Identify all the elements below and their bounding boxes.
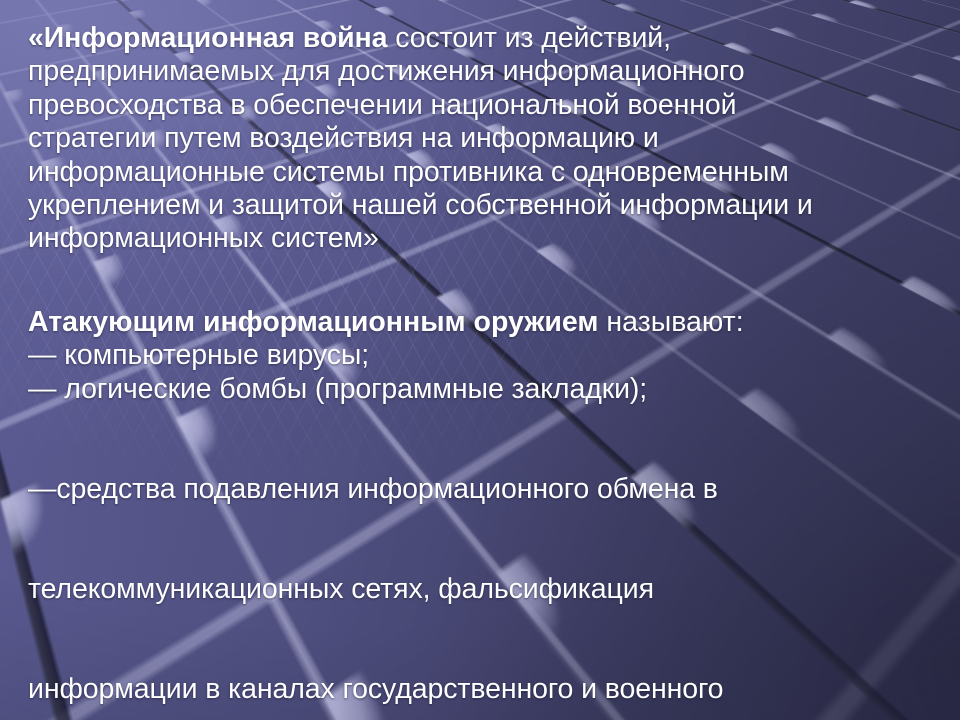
quote-line-2: предпринимаемых для достижения информаци… [28,55,944,88]
list-item-line: — компьютерные вирусы; [28,339,369,371]
quote-line-1: «Информационная война состоит из действи… [28,22,944,55]
weapon-list: — компьютерные вирусы; — логические бомб… [28,339,944,720]
quote-line-1-rest: состоит из действий, [387,22,670,54]
section-heading-bold: Атакующим информационным оружием [28,306,598,338]
quote-line-4: стратегии путем воздействия на информаци… [28,122,944,155]
quote-line-3: превосходства в обеспечении национальной… [28,89,944,122]
quote-line-5: информационные системы противника с одно… [28,156,944,189]
list-item-line: телекоммуникационных сетях, фальсификаци… [28,573,944,606]
section-spacer [28,256,944,306]
list-item: — логические бомбы (программные закладки… [28,373,944,406]
slide-content: «Информационная война состоит из действи… [28,22,944,720]
list-item-line: — логические бомбы (программные закладки… [28,373,647,405]
list-item-line: —средства подавления информационного обм… [28,473,944,506]
quote-line-6: укреплением и защитой нашей собственной … [28,189,944,222]
list-item: — компьютерные вирусы; [28,339,944,372]
quote-paragraph: «Информационная война состоит из действи… [28,22,944,256]
presentation-slide: «Информационная война состоит из действи… [0,0,960,720]
quote-bold-lead: «Информационная война [28,22,387,54]
quote-line-7: информационных систем» [28,222,944,255]
list-item-line: информации в каналах государственного и … [28,673,944,706]
section-heading: Атакующим информационным оружием называю… [28,306,944,339]
list-item: —средства подавления информационного обм… [28,406,944,720]
section-heading-plain: называют: [598,306,743,338]
